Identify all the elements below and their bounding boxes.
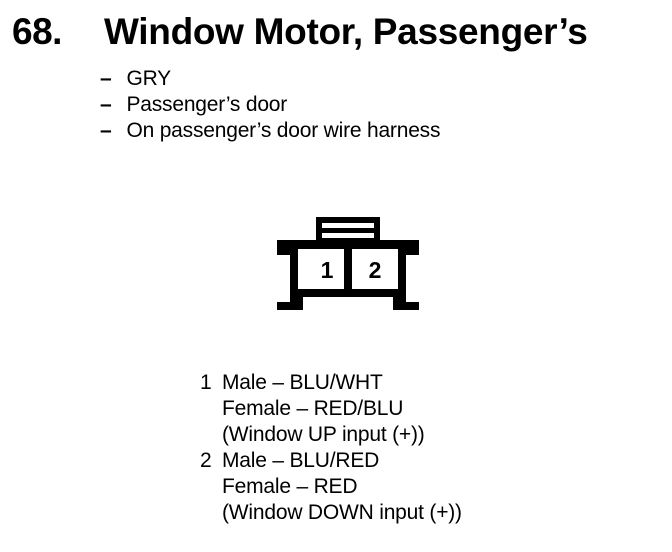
dash-bullet-icon: – — [100, 66, 122, 92]
pin-legend: 1Male – BLU/WHT Female – RED/BLU (Window… — [200, 370, 660, 526]
attribute-location: Passenger’s door — [126, 92, 287, 118]
cavity-label-2: 2 — [369, 257, 382, 283]
attribute-connector-color: GRY — [126, 66, 171, 92]
cavity-label-1: 1 — [321, 257, 334, 283]
page-header: 68. Window Motor, Passenger’s — [0, 8, 672, 56]
pin-1-female-wire: Female – RED/BLU — [222, 396, 403, 422]
pin-number-2: 2 — [200, 448, 222, 474]
connector-illustration: 1 2 — [265, 205, 430, 325]
page-title: Window Motor, Passenger’s — [104, 8, 588, 56]
pin-entry-2: 2Male – BLU/RED Female – RED (Window DOW… — [200, 448, 660, 526]
list-item: – GRY — [100, 66, 640, 92]
dash-bullet-icon: – — [100, 118, 122, 144]
pin-line: 2Male – BLU/RED — [200, 448, 660, 474]
pin-2-female-wire: Female – RED — [222, 474, 357, 500]
item-number: 68. — [12, 8, 62, 56]
list-item: – Passenger’s door — [100, 92, 640, 118]
pin-number-1: 1 — [200, 370, 222, 396]
pin-line: Female – RED/BLU — [200, 396, 660, 422]
pin-1-male-wire: Male – BLU/WHT — [222, 370, 383, 396]
list-item: – On passenger’s door wire harness — [100, 118, 640, 144]
cavity-divider — [344, 249, 352, 290]
dash-bullet-icon: – — [100, 92, 122, 118]
pin-line: (Window UP input (+)) — [200, 422, 660, 448]
pin-entry-1: 1Male – BLU/WHT Female – RED/BLU (Window… — [200, 370, 660, 448]
pin-line: Female – RED — [200, 474, 660, 500]
attribute-harness: On passenger’s door wire harness — [126, 118, 440, 144]
pin-2-male-wire: Male – BLU/RED — [222, 448, 379, 474]
pin-2-function: (Window DOWN input (+)) — [222, 500, 462, 526]
attribute-list: – GRY – Passenger’s door – On passenger’… — [100, 66, 640, 144]
pin-line: 1Male – BLU/WHT — [200, 370, 660, 396]
pin-1-function: (Window UP input (+)) — [222, 422, 425, 448]
pin-line: (Window DOWN input (+)) — [200, 500, 660, 526]
connector-diagram: 1 2 — [265, 205, 430, 325]
